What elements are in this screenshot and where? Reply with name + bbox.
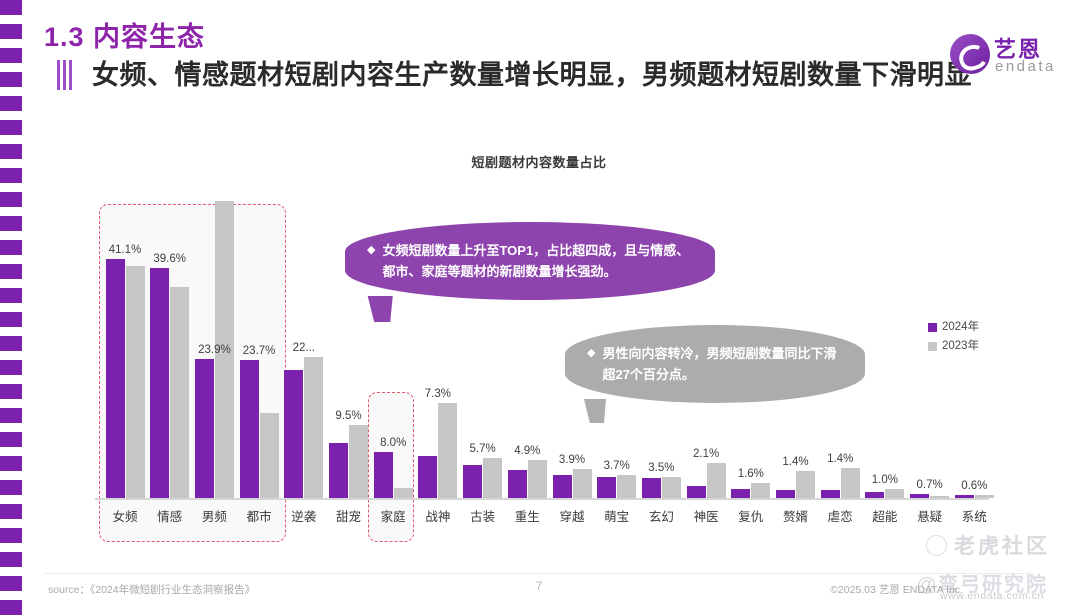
bar-2023: [662, 477, 681, 498]
bar-2024: [776, 490, 795, 498]
slide: 1.3 内容生态 女频、情感题材短剧内容生产数量增长明显，男频题材短剧数量下滑明…: [0, 0, 1078, 608]
callout-purple-tail: [368, 296, 399, 322]
stripe-segment: [0, 72, 22, 87]
bar-2023: [304, 357, 323, 498]
bar-2024: [195, 359, 214, 498]
bar-2024: [106, 259, 125, 498]
bar-value-label: 22...: [277, 342, 331, 354]
bar-2023: [170, 287, 189, 498]
bar-value-label: 1.4%: [813, 453, 867, 465]
legend-label-2023: 2023年: [942, 337, 979, 356]
bar-value-label: 3.5%: [634, 462, 688, 474]
callout-purple-text: 女频短剧数量上升至TOP1，占比超四成，且与情感、都市、家庭等题材的新剧数量增长…: [382, 240, 691, 282]
bar-value-label: 2.1%: [679, 448, 733, 460]
stripe-segment: [0, 432, 22, 447]
bar-2023: [751, 483, 770, 498]
callout-male-decline: ◆ 男性向内容转冷，男频短剧数量同比下滑超27个百分点。: [565, 325, 865, 403]
bar-2023: [126, 266, 145, 498]
bar-2024: [150, 268, 169, 498]
watermark-community-text: 老虎社区: [954, 535, 1050, 558]
bar-group: [507, 460, 547, 498]
x-axis-label: 系统: [946, 506, 1002, 525]
bar-2023: [841, 468, 860, 498]
chart-legend: 2024年 2023年: [928, 318, 979, 356]
bar-2024: [687, 486, 706, 498]
bar-2024: [642, 478, 661, 498]
endata-logo-icon: [950, 34, 990, 74]
bar-group: [641, 477, 681, 498]
stripe-segment: [0, 0, 22, 15]
stripe-segment: [0, 264, 22, 279]
bar-2023: [260, 413, 279, 498]
bar-value-label: 1.6%: [724, 468, 778, 480]
bar-group: [150, 268, 190, 498]
legend-swatch-2023: [928, 342, 937, 351]
bar-group: [239, 360, 279, 498]
stripe-segment: [0, 504, 22, 519]
legend-item-2023: 2023年: [928, 337, 979, 356]
diamond-bullet-icon: ◆: [587, 343, 595, 385]
bar-2023: [483, 458, 502, 498]
bar-2023: [617, 475, 636, 498]
left-decorative-stripe: [0, 0, 22, 608]
bar-group: [820, 468, 860, 498]
stripe-segment: [0, 480, 22, 495]
stripe-segment: [0, 456, 22, 471]
stripe-segment: [0, 288, 22, 303]
bar-group: [686, 463, 726, 498]
footer-divider: [44, 573, 1034, 574]
bar-value-label: 8.0%: [366, 437, 420, 449]
legend-label-2024: 2024年: [942, 318, 979, 337]
bar-2024: [821, 490, 840, 498]
bar-2023: [796, 471, 815, 498]
bar-2024: [418, 456, 437, 498]
watermark-community: 老虎社区: [926, 530, 1050, 560]
bar-group: [731, 483, 771, 498]
stripe-segment: [0, 408, 22, 423]
stripe-segment: [0, 24, 22, 39]
bar-group: [597, 475, 637, 498]
bar-value-label: 39.6%: [143, 253, 197, 265]
bar-group: [865, 489, 905, 498]
callout-female-growth: ◆ 女频短剧数量上升至TOP1，占比超四成，且与情感、都市、家庭等题材的新剧数量…: [345, 222, 715, 300]
stripe-segment: [0, 120, 22, 135]
stripe-segment: [0, 192, 22, 207]
bar-2024: [553, 475, 572, 498]
bar-2023: [394, 488, 413, 498]
tiger-avatar-icon: [926, 535, 947, 556]
bar-2024: [463, 465, 482, 498]
legend-item-2024: 2024年: [928, 318, 979, 337]
bar-group: [284, 357, 324, 498]
bar-2023: [438, 403, 457, 498]
bar-value-label: 7.3%: [411, 388, 465, 400]
bar-2024: [329, 443, 348, 498]
bar-group: [329, 425, 369, 498]
diamond-bullet-icon: ◆: [367, 240, 375, 282]
callout-gray-tail: [584, 399, 612, 423]
bar-2023: [573, 469, 592, 498]
bar-group: [373, 452, 413, 498]
stripe-segment: [0, 360, 22, 375]
endata-logo: 艺恩 endata: [950, 30, 1062, 80]
stripe-segment: [0, 552, 22, 567]
stripe-segment: [0, 336, 22, 351]
bar-value-label: 0.6%: [947, 480, 1001, 492]
title-accent-icon: [57, 60, 75, 90]
legend-swatch-2024: [928, 323, 937, 332]
stripe-segment: [0, 384, 22, 399]
bar-group: [552, 469, 592, 498]
chart-baseline: [95, 498, 989, 500]
stripe-segment: [0, 48, 22, 63]
stripe-segment: [0, 312, 22, 327]
bar-group: [776, 471, 816, 498]
bar-2024: [508, 470, 527, 498]
bar-group: [418, 403, 458, 498]
bar-2024: [284, 370, 303, 498]
logo-en-text: endata: [995, 58, 1056, 75]
stripe-segment: [0, 216, 22, 231]
bar-group: [463, 458, 503, 498]
bar-group: [105, 259, 145, 498]
stripe-segment: [0, 96, 22, 111]
bar-value-label: 9.5%: [322, 410, 376, 422]
bar-2024: [597, 477, 616, 498]
bar-2024: [374, 452, 393, 498]
bar-2023: [885, 489, 904, 498]
bar-2023: [707, 463, 726, 498]
copyright-note: ©2025.03 艺恩 ENDATA Inc.: [830, 582, 963, 597]
page-title: 女频、情感题材短剧内容生产数量增长明显，男频题材短剧数量下滑明显: [92, 56, 972, 95]
callout-gray-text: 男性向内容转冷，男频短剧数量同比下滑超27个百分点。: [602, 343, 841, 385]
section-kicker: 1.3 内容生态: [44, 15, 205, 54]
callout-gray-bubble: ◆ 男性向内容转冷，男频短剧数量同比下滑超27个百分点。: [565, 325, 865, 403]
bar-2023: [349, 425, 368, 498]
bar-2024: [731, 489, 750, 498]
stripe-segment: [0, 528, 22, 543]
chart-title: 短剧题材内容数量占比: [0, 152, 1078, 171]
bar-2024: [240, 360, 259, 498]
stripe-segment: [0, 240, 22, 255]
bar-2023: [528, 460, 547, 498]
callout-purple-bubble: ◆ 女频短剧数量上升至TOP1，占比超四成，且与情感、都市、家庭等题材的新剧数量…: [345, 222, 715, 300]
